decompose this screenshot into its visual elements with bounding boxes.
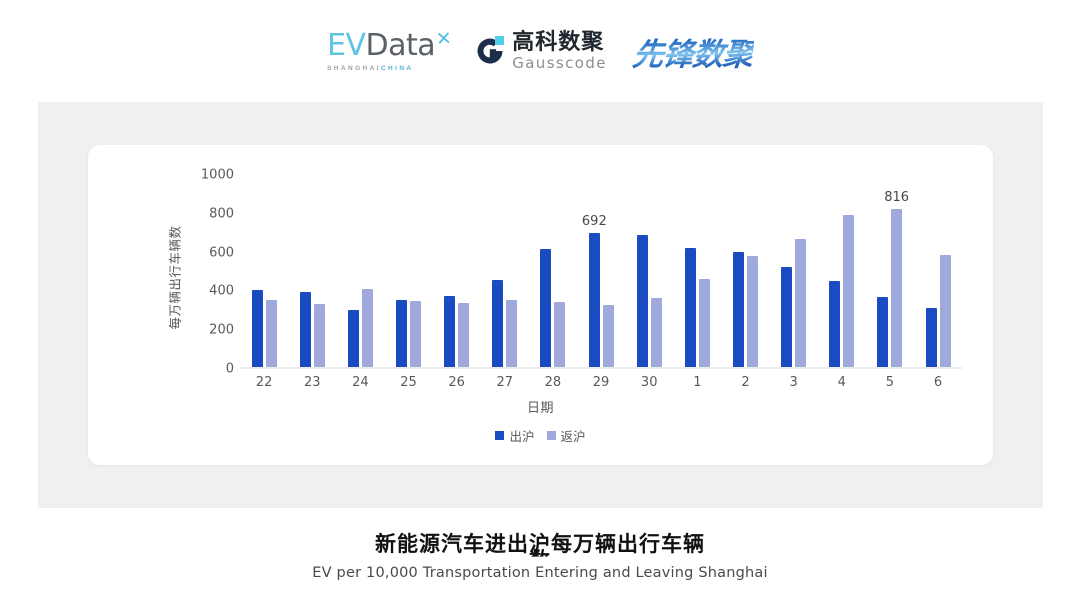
bar-out[interactable] (781, 267, 792, 367)
bar-back[interactable] (314, 304, 325, 367)
x-axis-tick-label: 6 (914, 375, 962, 390)
x-axis-line (240, 367, 962, 369)
gausscode-text: 高科数聚 Gausscode (512, 32, 607, 71)
evdata-tagline: SHANGHAICHINA (327, 65, 413, 72)
bar-group (240, 175, 288, 367)
evdata-tagline-shanghai: SHANGHAI (327, 65, 381, 72)
bar-out[interactable] (444, 296, 455, 367)
bar-groups: 692816 (240, 175, 962, 367)
bar-group (481, 175, 529, 367)
chart-figure: 每万辆出行车辆数 02004006008001000 692816 222324… (88, 145, 993, 465)
evdata-cross-icon: ✕ (435, 23, 452, 54)
bar-group (818, 175, 866, 367)
x-axis-tick-label: 30 (625, 375, 673, 390)
bar-back[interactable] (362, 289, 373, 367)
x-axis-tick-label: 28 (529, 375, 577, 390)
evdata-tagline-china: CHINA (381, 65, 414, 72)
evdata-logo: EVData✕ SHANGHAICHINA (327, 31, 449, 72)
bar-group: 692 (577, 175, 625, 367)
x-axis-tick-label: 3 (770, 375, 818, 390)
bar-back[interactable] (940, 255, 951, 367)
legend-label: 出沪 (509, 426, 534, 445)
gausscode-cn-name: 高科数聚 (512, 32, 607, 54)
bar-group (529, 175, 577, 367)
chart-card: 每万辆出行车辆数 02004006008001000 692816 222324… (88, 145, 993, 465)
gausscode-square-accent (495, 36, 504, 45)
legend-label: 返沪 (561, 426, 586, 445)
bar-out[interactable] (492, 280, 503, 367)
xianfeng-logo: 先锋数聚 (631, 29, 756, 74)
legend-swatch (495, 431, 504, 440)
x-axis-ticks: 222324252627282930123456 (240, 375, 962, 390)
y-axis-tick-label: 600 (209, 245, 234, 260)
x-axis-tick-label: 1 (673, 375, 721, 390)
bar-group (673, 175, 721, 367)
bar-out[interactable] (829, 281, 840, 367)
bar-group (433, 175, 481, 367)
plot-area: 02004006008001000 692816 (240, 175, 962, 369)
bar-back[interactable] (843, 215, 854, 367)
gausscode-g-icon (475, 36, 505, 66)
x-axis-tick-label: 24 (336, 375, 384, 390)
x-axis-tick-label: 22 (240, 375, 288, 390)
y-axis-tick-label: 400 (209, 284, 234, 299)
caption-subtitle: EV per 10,000 Transportation Entering an… (0, 565, 1080, 581)
bar-group (336, 175, 384, 367)
bar-out[interactable] (396, 300, 407, 367)
bar-out[interactable] (348, 310, 359, 367)
bar-out[interactable] (877, 297, 888, 367)
bar-out[interactable] (733, 252, 744, 367)
x-axis-tick-label: 27 (481, 375, 529, 390)
bar-back[interactable] (603, 305, 614, 367)
gausscode-logo: 高科数聚 Gausscode (475, 32, 607, 71)
x-axis-tick-label: 29 (577, 375, 625, 390)
bar-group (914, 175, 962, 367)
bar-out[interactable] (685, 248, 696, 367)
bar-value-label: 816 (884, 190, 909, 205)
x-axis-tick-label: 4 (818, 375, 866, 390)
x-axis-tick-label: 25 (384, 375, 432, 390)
bar-out[interactable] (637, 235, 648, 367)
bar-back[interactable] (410, 301, 421, 367)
y-axis-tick-label: 800 (209, 206, 234, 221)
logo-bar: EVData✕ SHANGHAICHINA 高科数聚 Gausscode 先锋数… (0, 22, 1080, 80)
y-axis-tick-label: 1000 (201, 168, 234, 183)
bar-value-label: 692 (582, 214, 607, 229)
evdata-ev-text: EV (327, 28, 365, 63)
bar-group: 816 (866, 175, 914, 367)
bar-out[interactable] (252, 290, 263, 367)
legend-swatch (547, 431, 556, 440)
y-axis-tick-label: 0 (226, 362, 234, 377)
y-axis-ticks: 02004006008001000 (200, 175, 234, 369)
bar-group (625, 175, 673, 367)
bar-group (288, 175, 336, 367)
legend-item[interactable]: 出沪 (495, 426, 534, 445)
evdata-wordmark: EVData✕ (327, 31, 435, 61)
evdata-data-text: Data (366, 28, 436, 63)
legend-item[interactable]: 返沪 (547, 426, 586, 445)
bar-group (721, 175, 769, 367)
bar-out[interactable] (300, 292, 311, 367)
bar-back[interactable] (795, 239, 806, 367)
bar-back[interactable] (458, 303, 469, 367)
bar-out[interactable] (589, 233, 600, 367)
caption-title: 新能源汽车进出沪每万辆出行车辆 数 (0, 528, 1080, 558)
caption-block: 新能源汽车进出沪每万辆出行车辆 数 EV per 10,000 Transpor… (0, 528, 1080, 581)
bar-group (384, 175, 432, 367)
chart-legend: 出沪返沪 (88, 426, 993, 445)
x-axis-tick-label: 2 (721, 375, 769, 390)
bar-back[interactable] (266, 300, 277, 367)
y-axis-tick-label: 200 (209, 323, 234, 338)
bar-back[interactable] (747, 256, 758, 367)
y-axis-title: 每万辆出行车辆数 (165, 197, 183, 357)
bar-out[interactable] (926, 308, 937, 367)
y-axis-title-text: 每万辆出行车辆数 (165, 225, 184, 329)
gausscode-en-name: Gausscode (512, 56, 607, 71)
x-axis-title: 日期 (88, 397, 993, 416)
bar-group (770, 175, 818, 367)
x-axis-tick-label: 23 (288, 375, 336, 390)
bar-back[interactable] (506, 300, 517, 367)
bar-out[interactable] (540, 249, 551, 367)
bar-back[interactable] (651, 298, 662, 367)
bar-back[interactable] (699, 279, 710, 367)
caption-title-text: 新能源汽车进出沪每万辆出行车辆 (375, 532, 705, 556)
x-axis-tick-label: 26 (433, 375, 481, 390)
x-axis-tick-label: 5 (866, 375, 914, 390)
bar-back[interactable] (891, 209, 902, 367)
bar-back[interactable] (554, 302, 565, 367)
